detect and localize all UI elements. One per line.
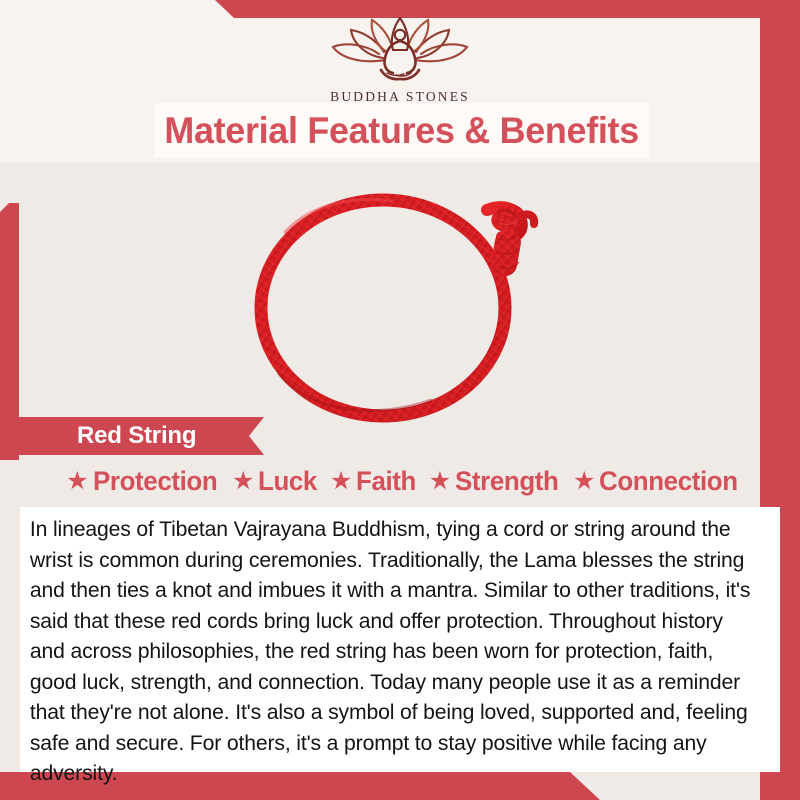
benefit-item-faith: ★ Faith — [320, 466, 419, 497]
title-banner: Material Features & Benefits — [155, 103, 649, 158]
benefit-item-protection: ★ Protection — [56, 466, 222, 497]
star-icon: ★ — [330, 469, 352, 494]
lotus-meditation-icon — [0, 14, 800, 87]
description-panel: In lineages of Tibetan Vajrayana Buddhis… — [20, 507, 780, 772]
star-icon: ★ — [66, 469, 88, 494]
benefit-label: Luck — [258, 466, 317, 497]
star-icon: ★ — [429, 469, 451, 494]
benefit-item-strength: ★ Strength — [419, 466, 563, 497]
star-icon: ★ — [573, 469, 595, 494]
benefit-label: Protection — [93, 466, 217, 497]
brand-logo: BUDDHA STONES — [0, 14, 800, 105]
page-title: Material Features & Benefits — [165, 110, 640, 152]
product-image — [225, 168, 565, 430]
benefit-item-luck: ★ Luck — [222, 466, 320, 497]
description-text: In lineages of Tibetan Vajrayana Buddhis… — [20, 514, 769, 789]
benefits-list: ★ Protection ★ Luck ★ Faith ★ Strength ★… — [0, 466, 800, 497]
benefit-label: Connection — [599, 466, 738, 497]
benefit-label: Strength — [455, 466, 558, 497]
benefit-label: Faith — [356, 466, 416, 497]
product-name: Red String — [19, 422, 196, 450]
benefit-item-connection: ★ Connection — [563, 466, 744, 497]
decor-band-left — [0, 203, 19, 460]
star-icon: ★ — [232, 469, 254, 494]
product-banner: Red String — [19, 417, 264, 455]
infographic-page: BUDDHA STONES Material Features & Benefi… — [0, 0, 800, 800]
